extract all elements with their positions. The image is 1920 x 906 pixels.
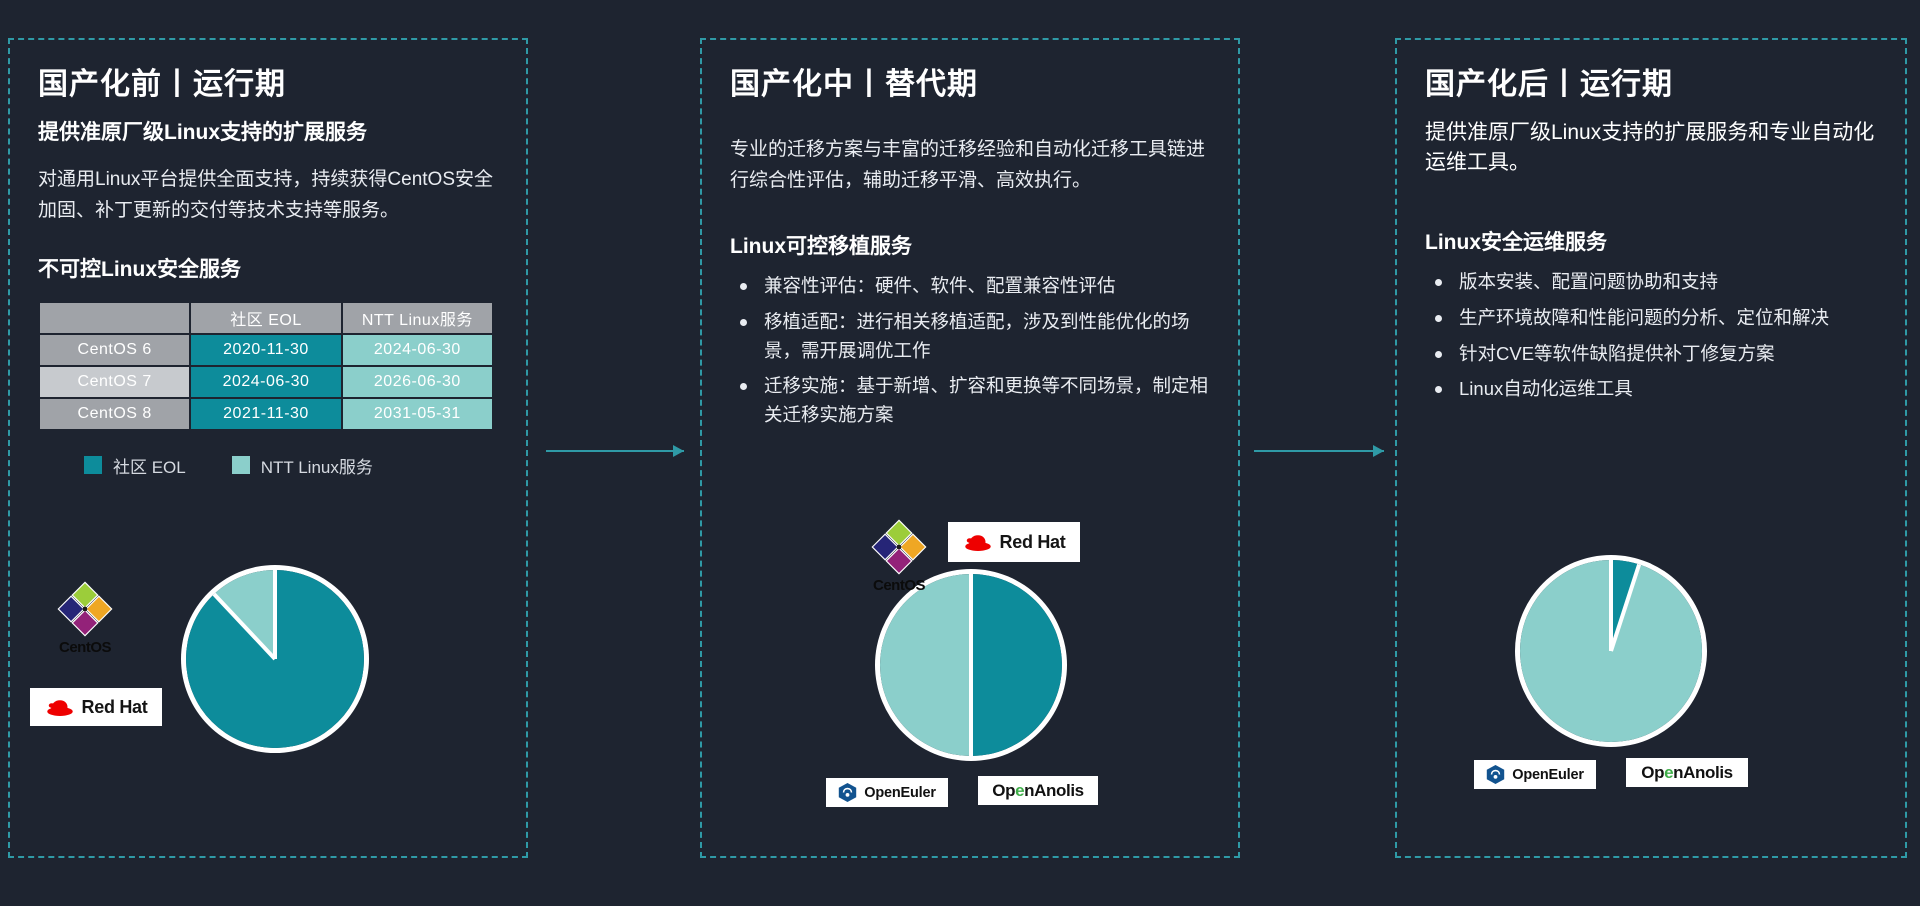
arrow-shaft [1254, 450, 1384, 452]
pie-chart-before [186, 570, 364, 748]
pie-chart-during [880, 574, 1062, 756]
list-item: 生产环境故障和性能问题的分析、定位和解决 [1425, 304, 1877, 333]
openanolis-wordmark: OpenAnolis [992, 781, 1083, 801]
pie-slice-separator [1609, 564, 1641, 652]
table-row: CentOS 8 2021-11-30 2031-05-31 [40, 399, 492, 429]
pie-slice-separator [213, 593, 277, 661]
redhat-fedora-icon [963, 531, 993, 553]
arrow-head [1373, 445, 1384, 457]
panel-section-heading: Linux安全运维服务 [1425, 226, 1877, 256]
centos-wordmark: CentOS [862, 577, 936, 594]
redhat-logo: Red Hat [948, 522, 1080, 562]
openeuler-mark-icon [838, 782, 857, 803]
panel-section-heading: 不可控Linux安全服务 [38, 253, 498, 283]
legend-label: 社区 EOL [113, 453, 186, 478]
arrow-shaft [546, 450, 684, 452]
panel-bullet-list: 版本安装、配置问题协助和支持 生产环境故障和性能问题的分析、定位和解决 针对CV… [1425, 268, 1877, 404]
panel-after-localization: 国产化后丨运行期 提供准原厂级Linux支持的扩展服务和专业自动化运维工具。 L… [1395, 38, 1907, 858]
centos-logo: CentOS [48, 580, 122, 656]
openeuler-logo: OpenEuler [1474, 760, 1596, 789]
panel-subtitle: 提供准原厂级Linux支持的扩展服务 [38, 118, 498, 148]
legend-label: NTT Linux服务 [261, 453, 373, 478]
table-header-blank [40, 303, 189, 333]
eol-table: 社区 EOL NTT Linux服务 CentOS 6 2020-11-30 2… [38, 301, 494, 431]
centos-mark-icon [55, 580, 115, 638]
table-cell-eol-date: 2024-06-30 [191, 367, 340, 397]
table-cell-os-name: CentOS 7 [40, 367, 189, 397]
slide-canvas: 国产化前丨运行期 提供准原厂级Linux支持的扩展服务 对通用Linux平台提供… [0, 0, 1920, 906]
table-row: CentOS 7 2024-06-30 2026-06-30 [40, 367, 492, 397]
chart-legend: 社区 EOL NTT Linux服务 [38, 453, 498, 478]
redhat-wordmark: Red Hat [1000, 532, 1066, 553]
table-row: CentOS 6 2020-11-30 2024-06-30 [40, 335, 492, 365]
openeuler-wordmark: OpenEuler [1512, 767, 1584, 783]
legend-swatch-icon [84, 456, 102, 474]
openeuler-logo: OpenEuler [826, 778, 948, 807]
panel-subtitle: 提供准原厂级Linux支持的扩展服务和专业自动化运维工具。 [1425, 118, 1877, 179]
arrow-head [673, 445, 684, 457]
table-header-row: 社区 EOL NTT Linux服务 [40, 303, 492, 333]
table-cell-os-name: CentOS 6 [40, 335, 189, 365]
pie-slice-separator [969, 574, 973, 665]
table-cell-eol-date: 2021-11-30 [191, 399, 340, 429]
panel-section-heading: Linux可控移植服务 [730, 230, 1210, 260]
centos-mark-icon [869, 518, 929, 576]
arrow-right-icon [546, 445, 684, 457]
openeuler-mark-icon [1486, 764, 1505, 785]
panel-bullet-list: 兼容性评估：硬件、软件、配置兼容性评估 移植适配：进行相关移植适配，涉及到性能优… [730, 272, 1210, 429]
list-item: 迁移实施：基于新增、扩容和更换等不同场景，制定相关迁移实施方案 [730, 372, 1210, 429]
table-cell-ntt-date: 2026-06-30 [343, 367, 492, 397]
openanolis-wordmark: OpenAnolis [1641, 763, 1732, 783]
list-item: 针对CVE等软件缺陷提供补丁修复方案 [1425, 340, 1877, 369]
legend-swatch-icon [232, 456, 250, 474]
centos-logo: CentOS [862, 518, 936, 594]
centos-wordmark: CentOS [48, 639, 122, 656]
list-item: Linux自动化运维工具 [1425, 375, 1877, 404]
list-item: 移植适配：进行相关移植适配，涉及到性能优化的场景，需开展调优工作 [730, 308, 1210, 365]
openeuler-wordmark: OpenEuler [864, 785, 936, 801]
redhat-logo: Red Hat [30, 688, 162, 726]
panel-body-text: 专业的迁移方案与丰富的迁移经验和自动化迁移工具链进行综合性评估，辅助迁移平滑、高… [730, 134, 1210, 197]
redhat-wordmark: Red Hat [82, 697, 148, 718]
table-cell-eol-date: 2020-11-30 [191, 335, 340, 365]
pie-slice-separator [969, 665, 973, 756]
arrow-right-icon [1254, 445, 1384, 457]
panel-body-text: 对通用Linux平台提供全面支持，持续获得CentOS安全加固、补丁更新的交付等… [38, 164, 498, 227]
openanolis-logo: OpenAnolis [978, 776, 1098, 805]
legend-item-ntt-service: NTT Linux服务 [232, 453, 373, 478]
table-cell-ntt-date: 2031-05-31 [343, 399, 492, 429]
page-title: 国产化前丨运行期 [38, 66, 498, 104]
list-item: 兼容性评估：硬件、软件、配置兼容性评估 [730, 272, 1210, 301]
table-header-community-eol: 社区 EOL [191, 303, 340, 333]
page-title: 国产化后丨运行期 [1425, 66, 1877, 104]
pie-slice-separator [273, 570, 277, 659]
redhat-fedora-icon [45, 696, 75, 718]
table-header-ntt-service: NTT Linux服务 [343, 303, 492, 333]
pie-chart-after [1520, 560, 1702, 742]
table-cell-ntt-date: 2024-06-30 [343, 335, 492, 365]
table-cell-os-name: CentOS 8 [40, 399, 189, 429]
list-item: 版本安装、配置问题协助和支持 [1425, 268, 1877, 297]
legend-item-community-eol: 社区 EOL [84, 453, 186, 478]
page-title: 国产化中丨替代期 [730, 66, 1210, 104]
openanolis-logo: OpenAnolis [1626, 758, 1748, 787]
